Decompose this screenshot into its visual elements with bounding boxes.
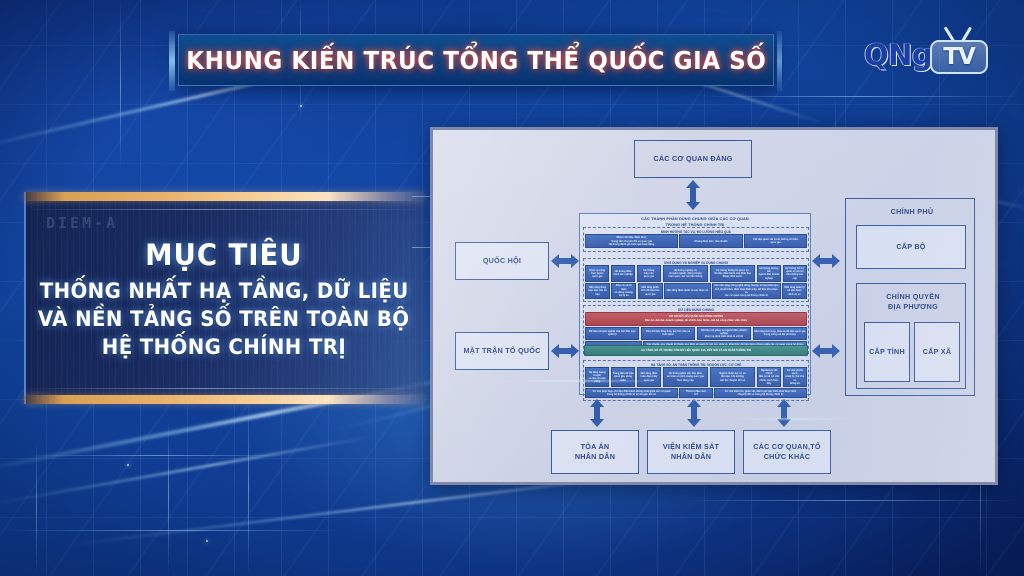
central-cell: Nền tảng tích hợp, chia sẻ dữ liệu quốc … [753,327,807,340]
central-cell: Hệ thống tương tác người dân doanh nghiệ… [757,265,781,281]
central-section-applications: ỨNG DỤNG VÀ NGHIỆP VỤ DÙNG CHUNG Dịch vụ… [583,258,809,302]
arrow-vertical-procuracy [686,399,702,427]
central-cell: Hạ tầng mạng truyền số liệu chuyên dùng [585,367,609,386]
central-cell: Hệ thống điều hành tác nghiệp [611,265,635,281]
central-cell: Dữ liệu chuyên ngành của các lĩnh vực qu… [585,327,639,340]
central-cell: Hệ thống báo cáo quốc gia [637,265,661,281]
page-title-banner: KHUNG KIẾN TRÚC TỔNG THỂ QUỐC GIA SỐ [178,34,774,86]
diagram-box-fatherland-front: MẶT TRẬN TỔ QUỐC [455,332,549,370]
central-cell: Nhóm chỉ tiêu chiến lược Trọng tâm chuyể… [585,234,678,248]
central-cell: Nền tảng tổng hợp báo cáo số liệu [585,283,610,299]
objective-line-2: VÀ NỀN TẢNG SỐ TRÊN TOÀN BỘ [38,307,410,331]
central-section-orientation: ĐỊNH HƯỚNG TÁC VỤ, ĐO LƯỜNG HIỆU QUẢ Nhó… [583,227,809,252]
diagram-box-party-agencies: CÁC CƠ QUAN ĐẢNG [634,140,752,178]
central-cell: Kho cơ sở tri thức số dùng chung, trợ lý… [611,283,636,299]
central-title: CÁC THÀNH PHẦN DÙNG CHUNG GIỮA CÁC CƠ QU… [580,216,810,228]
central-cell: Nguồn nhân lực số và đào tạo, bồi dưỡng … [710,367,756,386]
central-row: Nhóm chỉ tiêu chiến lược Trọng tâm chuyể… [585,234,807,248]
central-row: Dịch vụ công trực tuyến quốc gia Hệ thốn… [585,265,807,281]
diagram-box-other-organizations: CÁC CƠ QUAN,TỔ CHỨC KHÁC [743,430,831,474]
diagram-box-government: CHÍNH PHỦ CẤP BỘ CHÍNH QUYỀN ĐỊA PHƯƠNG … [845,198,975,396]
objective-panel: DIEM-A MỤC TIÊU THỐNG NHẤT HẠ TẦNG, DỮ L… [24,192,424,404]
central-band-digital-infrastructure: HẠ TẦNG SỐ VÀ TRUNG TÂM DỮ LIỆU QUỐC GIA… [584,345,808,356]
central-row: Hạ tầng mạng truyền số liệu chuyên dùng … [585,367,807,386]
diagram-box-ministry-level: CẤP BỘ [856,225,966,269]
diagram-box-government-title: CHÍNH PHỦ [848,207,976,217]
central-cell: Nguồn lực tài chính đầu tư và cơ chế chí… [757,367,781,386]
central-section-infrastructure-band: HẠ TẦNG SỐ VÀ TRUNG TÂM DỮ LIỆU QUỐC GIA… [583,345,809,356]
objective-text-block: MỤC TIÊU THỐNG NHẤT HẠ TẦNG, DỮ LIỆU VÀ … [34,208,414,388]
diagram-box-party-agencies-label: CÁC CƠ QUAN ĐẢNG [653,154,732,164]
central-cell: Trung tâm dữ liệu quốc gia, vùng miền [611,367,635,386]
central-cell: Hệ thống nghiệp vụ chuyên ngành, dùng ch… [663,265,709,281]
arrow-horizontal-assembly [551,253,579,269]
central-cell: Cơ chế kiểm tra, giám sát, đánh giá việc… [714,388,807,398]
central-cell: Chỉ đạo giám sát và đo lường chỉ tiêu qu… [744,234,807,248]
diagram-box-local-government-title: CHÍNH QUYỀN ĐỊA PHƯƠNG [859,292,967,311]
central-cell: Nền tảng điện toán đám mây quốc gia [637,367,661,386]
logo-tv-label: TV [943,44,975,70]
diagram-central-shared-components: CÁC THÀNH PHẦN DÙNG CHUNG GIỮA CÁC CƠ QU… [579,213,811,395]
central-cell: Nền tảng định danh và xác thực số [664,283,711,299]
central-cell: Nền tảng quản lý và vận hành dịch vụ số [782,283,807,299]
page-title: KHUNG KIẾN TRÚC TỔNG THỂ QUỐC GIA SỐ [186,46,766,75]
central-cell: Các nền tảng công nghệ dùng chung: trí t… [712,283,781,299]
panel-glow [733,418,853,420]
diagram-box-fatherland-front-label: MẶT TRẬN TỔ QUỐC [463,346,540,356]
arrow-vertical-other [776,399,792,427]
central-cell: Cơ chế chính sách, pháp lý, thể chế số đ… [783,367,807,386]
tv-icon: TV [930,40,988,74]
arrow-horizontal-local-gov [812,343,840,359]
central-row: Dữ liệu chuyên ngành của các lĩnh vực qu… [585,327,807,340]
central-section-resources: HẠ TẦNG SỐ, AN TOÀN THÔNG TIN, NGUỒN LỰC… [583,360,809,401]
central-cell: Hệ thống thông tin phục vụ chỉ đạo điều … [710,265,756,281]
central-cell: Hệ thống giám sát, bảo đảm an toàn an ni… [663,367,709,386]
diagram-box-peoples-court: TÒA ÁN NHÂN DÂN [551,430,639,474]
central-cell: Thiết bị đầu cuối, IoT [679,388,712,398]
objective-line-1: THỐNG NHẤT HẠ TẦNG, DỮ LIỆU [40,279,409,303]
arrow-vertical-party [685,180,701,210]
objective-heading: MỤC TIÊU [145,238,302,272]
arrow-horizontal-government [812,253,840,269]
diagram-content: CÁC CƠ QUAN ĐẢNG QUỐC HỘI MẶT TRẬN TỔ QU… [433,130,995,482]
diagram-box-province-level: CẤP TỈNH [864,322,910,382]
central-cell: Dữ liệu mở phục vụ người dân, doanh nghi… [697,327,751,340]
diagram-box-ministry-level-label: CẤP BỘ [896,242,925,252]
channel-logo: QNg TV [864,28,996,80]
thin-accent-line [24,388,424,389]
diagram-box-commune-level-label: CẤP XÃ [923,347,952,357]
central-cell: Kho dữ liệu tổng hợp, kết nối chia sẻ to… [641,327,695,340]
gold-accent-bar-bottom [24,395,424,404]
central-cell: Dịch vụ công trực tuyến quốc gia [585,265,609,281]
diagram-box-national-assembly: QUỐC HỘI [455,242,549,280]
diagram-box-local-government: CHÍNH QUYỀN ĐỊA PHƯƠNG CẤP TỈNH CẤP XÃ [856,283,966,389]
central-cell: Nền tảng phân tích dữ liệu lớn quốc gia [638,283,663,299]
arrow-horizontal-front [551,343,579,359]
central-cell: Cơ chế phối hợp, chỉ đạo điều hành thống… [585,388,678,398]
diagram-box-national-assembly-label: QUỐC HỘI [483,256,521,266]
logo-text: QNg [864,38,932,72]
central-cell: Hệ thống hỗ trợ quản trị nội bộ liên thô… [783,265,807,281]
diagram-box-peoples-procuracy: VIỆN KIỂM SÁT NHÂN DÂN [647,430,735,474]
gold-accent-bar-top [24,192,424,201]
arrow-vertical-court [589,399,605,427]
architecture-diagram-panel: CÁC CƠ QUAN ĐẢNG QUỐC HỘI MẶT TRẬN TỔ QU… [430,127,998,485]
diagram-box-commune-level: CẤP XÃ [914,322,960,382]
central-row: Nền tảng tổng hợp báo cáo số liệu Kho cơ… [585,283,807,299]
central-band-national-database: CƠ SỞ DỮ LIỆU QUỐC GIA DÙNG CHUNG Dân cư… [585,312,807,325]
central-row: Cơ chế phối hợp, chỉ đạo điều hành thống… [585,388,807,398]
diagram-box-province-level-label: CẤP TỈNH [869,347,905,357]
central-cell: Khung kiến trúc, tiêu chuẩn [679,234,742,248]
objective-line-3: HỆ THỐNG CHÍNH TRỊ [102,335,346,359]
